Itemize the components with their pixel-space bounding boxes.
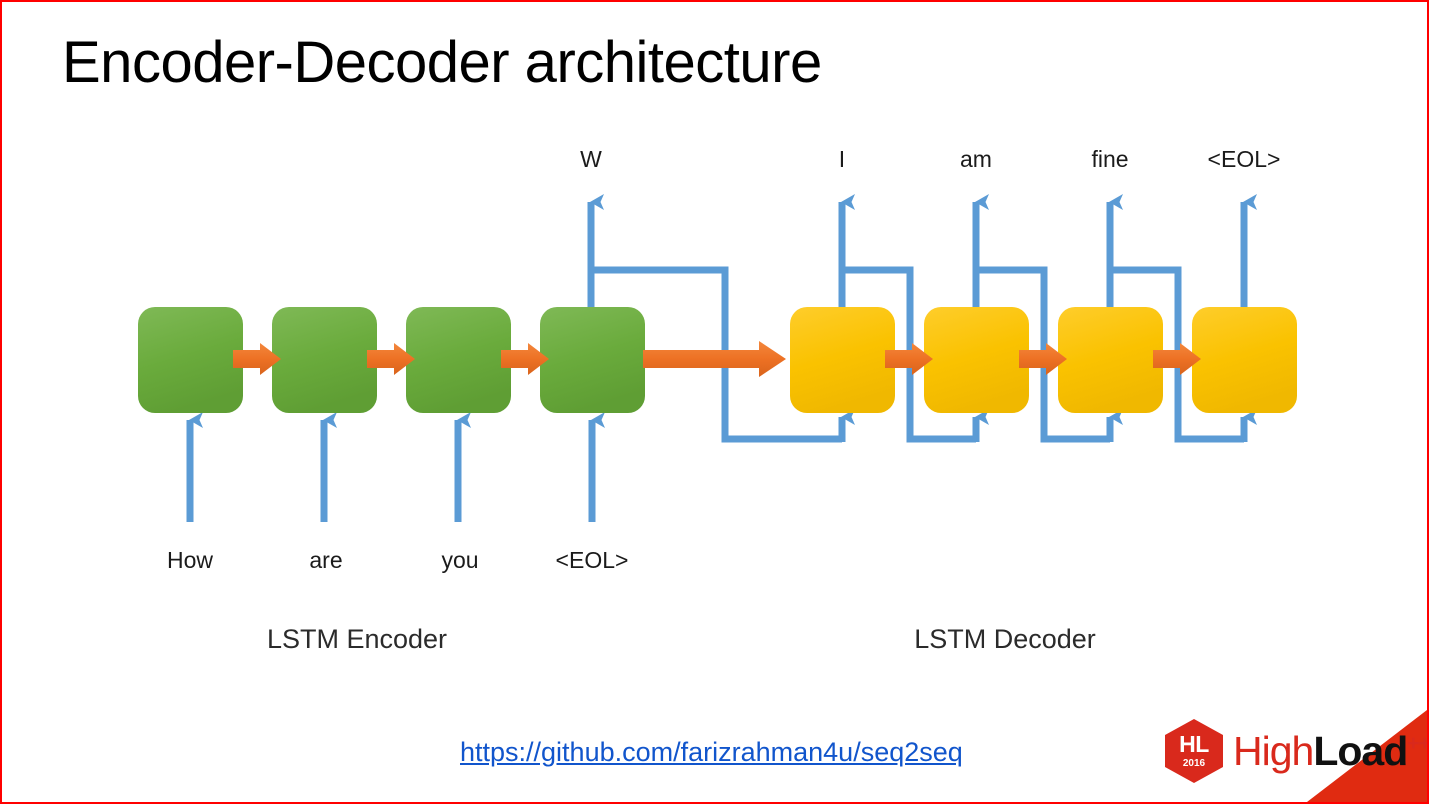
- encoder-caption: LSTM Encoder: [267, 624, 447, 654]
- source-url-link[interactable]: https://github.com/farizrahman4u/seq2seq: [460, 737, 963, 768]
- decoder-output-label-3: fine: [1091, 146, 1128, 172]
- encoder-input-label-2: are: [309, 547, 342, 573]
- decoder-caption: LSTM Decoder: [914, 624, 1096, 654]
- encoder-input-label-4: <EOL>: [556, 547, 629, 573]
- encoder-cell-4[interactable]: [540, 307, 645, 413]
- state-flow-arrows: [233, 341, 1201, 377]
- decoder-output-label-2: am: [960, 146, 992, 172]
- section-captions: LSTM Encoder LSTM Decoder: [267, 624, 1096, 654]
- encoder-output-label-4: W: [580, 146, 602, 172]
- logo-wordmark: High Load ++: [1233, 731, 1429, 772]
- decoder-signal-lines: [842, 202, 1244, 442]
- highload-logo: HL 2016 High Load ++: [1165, 720, 1429, 782]
- context-vector-arrow: [643, 341, 786, 377]
- logo-year: 2016: [1183, 759, 1205, 769]
- logo-word-load: Load: [1313, 731, 1407, 772]
- decoder-cell-4[interactable]: [1192, 307, 1297, 413]
- logo-word-high: High: [1233, 731, 1313, 772]
- logo-initials: HL: [1179, 733, 1209, 756]
- logo-word-plus: ++: [1407, 733, 1429, 754]
- encoder-input-label-3: you: [441, 547, 478, 573]
- encoder-decoder-diagram: W I am fine <EOL> How are you <EOL> LSTM…: [2, 2, 1429, 804]
- encoder-input-label-1: How: [167, 547, 213, 573]
- decoder-output-label-4: <EOL>: [1208, 146, 1281, 172]
- slide-canvas: Encoder-Decoder architecture: [0, 0, 1429, 804]
- encoder-cell-1[interactable]: [138, 307, 243, 413]
- encoder-input-arrows: [190, 420, 592, 522]
- decoder-cell-1[interactable]: [790, 307, 895, 413]
- decoder-output-label-1: I: [839, 146, 845, 172]
- hexagon-badge-icon: HL 2016: [1165, 719, 1223, 783]
- output-labels: W I am fine <EOL>: [580, 146, 1280, 172]
- encoder-cell-3[interactable]: [406, 307, 511, 413]
- decoder-cell-2[interactable]: [924, 307, 1029, 413]
- encoder-cell-2[interactable]: [272, 307, 377, 413]
- input-labels: How are you <EOL>: [167, 547, 628, 573]
- decoder-cell-3[interactable]: [1058, 307, 1163, 413]
